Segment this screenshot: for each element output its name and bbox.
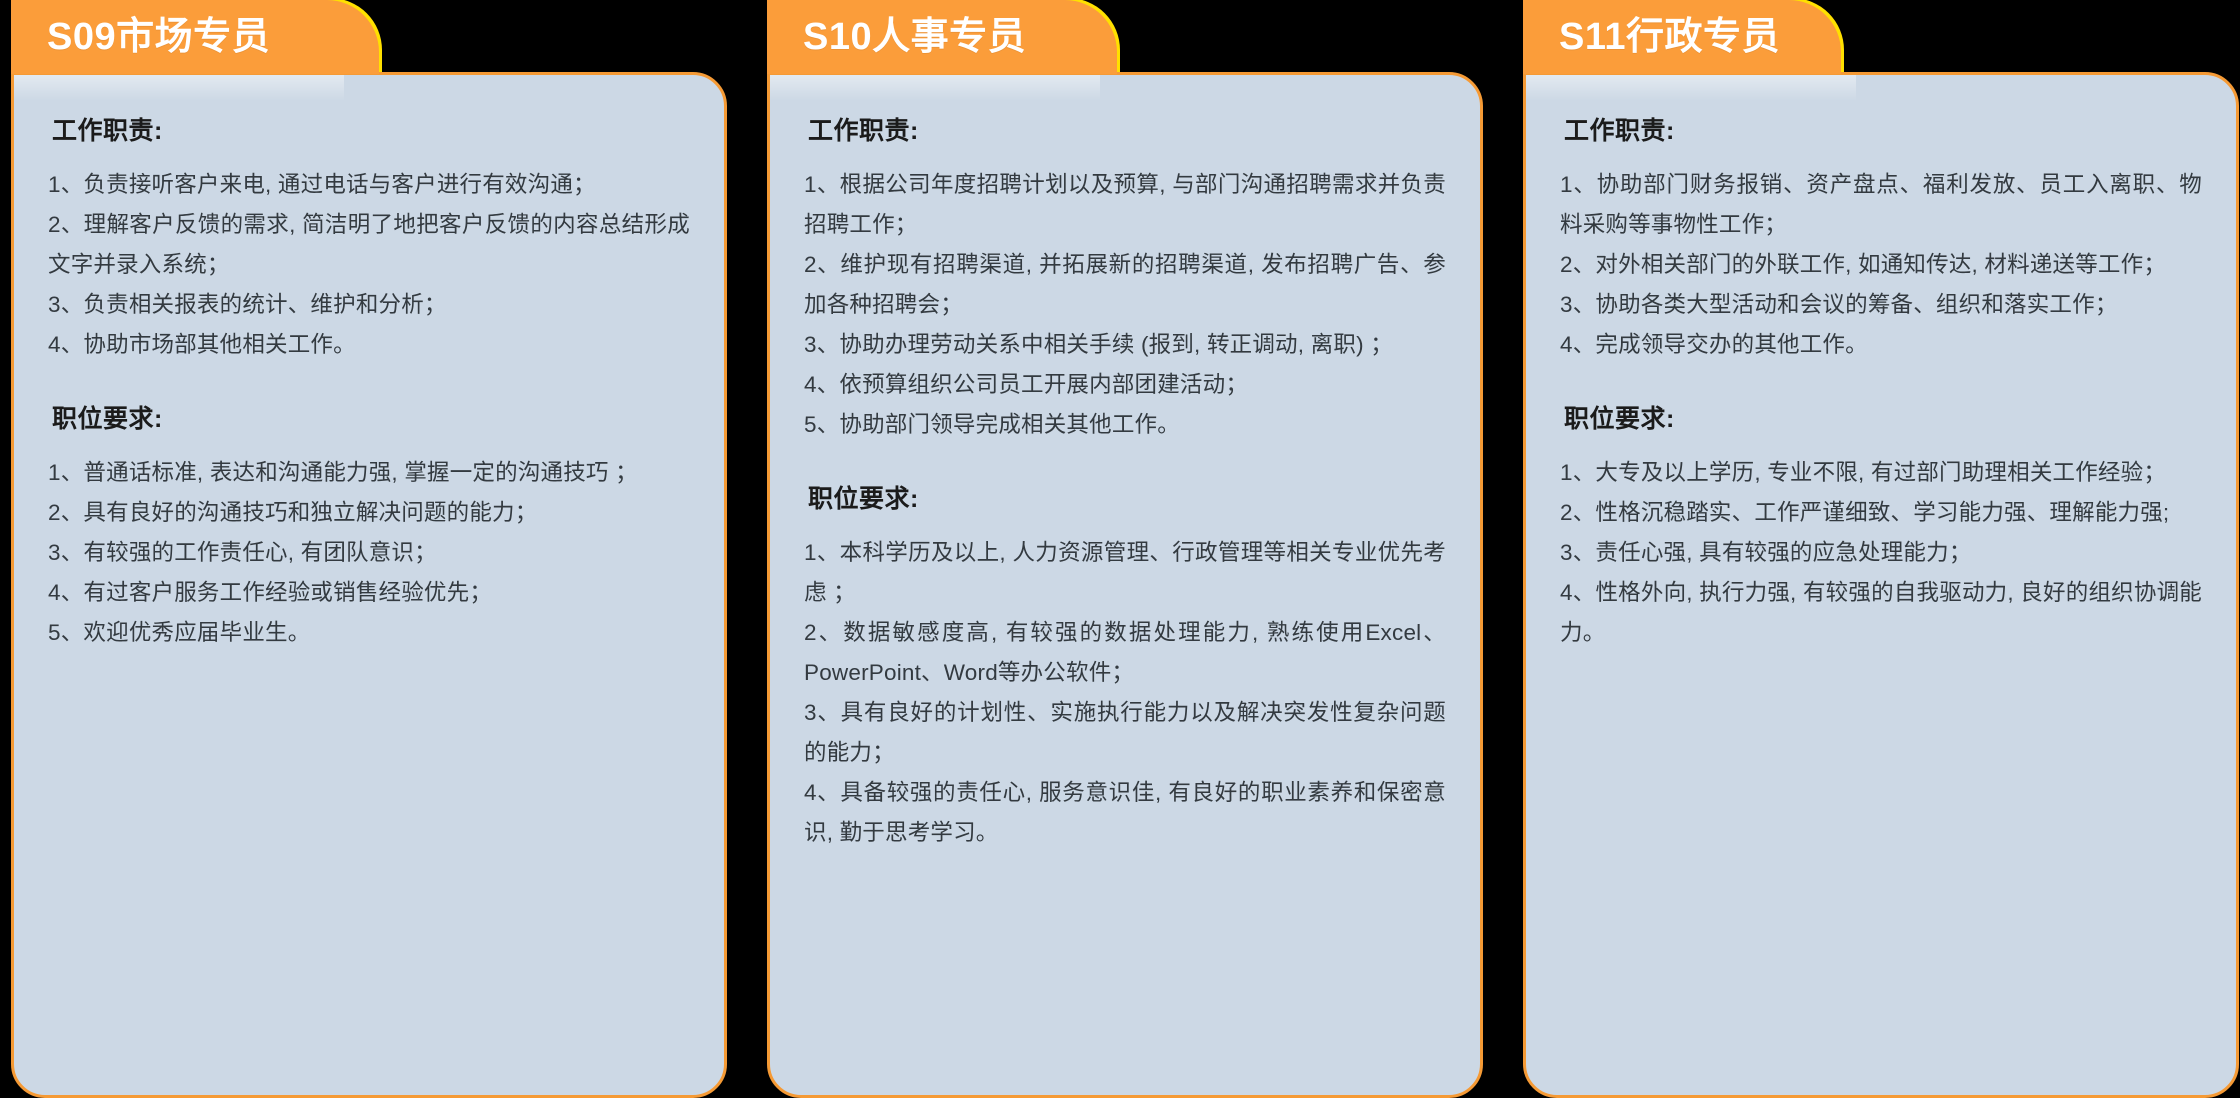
job-card-title-s11: S11行政专员 — [1559, 18, 1780, 56]
list-item: 4、具备较强的责任心, 服务意识佳, 有良好的职业素养和保密意识, 勤于思考学习… — [804, 773, 1446, 853]
job-card-s11: S11行政专员 工作职责: 1、协助部门财务报销、资产盘点、福利发放、员工入离职… — [1523, 0, 2239, 1098]
section-requirements-s11: 职位要求: 1、大专及以上学历, 专业不限, 有过部门助理相关工作经验； 2、性… — [1560, 405, 2202, 653]
section-heading-requirements-s10: 职位要求: — [808, 485, 919, 517]
list-item: 1、普通话标准, 表达和沟通能力强, 掌握一定的沟通技巧 ； — [48, 453, 690, 493]
list-item: 4、协助市场部其他相关工作。 — [48, 325, 690, 365]
section-heading-requirements-s11: 职位要求: — [1564, 405, 1675, 437]
section-heading-duties-s11: 工作职责: — [1564, 117, 1675, 149]
list-item: 1、大专及以上学历, 专业不限, 有过部门助理相关工作经验； — [1560, 453, 2202, 493]
list-item: 3、协助办理劳动关系中相关手续 (报到, 转正调动, 离职) ； — [804, 325, 1446, 365]
requirements-list-s09: 1、普通话标准, 表达和沟通能力强, 掌握一定的沟通技巧 ； 2、具有良好的沟通… — [48, 453, 690, 653]
job-card-s09: S09市场专员 工作职责: 1、负责接听客户来电, 通过电话与客户进行有效沟通；… — [11, 0, 727, 1098]
list-item: 3、有较强的工作责任心, 有团队意识； — [48, 533, 690, 573]
job-card-body-s11: 工作职责: 1、协助部门财务报销、资产盘点、福利发放、员工入离职、物料采购等事物… — [1523, 72, 2239, 1098]
list-item: 1、根据公司年度招聘计划以及预算, 与部门沟通招聘需求并负责招聘工作； — [804, 165, 1446, 245]
list-item: 4、性格外向, 执行力强, 有较强的自我驱动力, 良好的组织协调能力。 — [1560, 573, 2202, 653]
list-item: 3、具有良好的计划性、实施执行能力以及解决突发性复杂问题的能力； — [804, 693, 1446, 773]
section-requirements-s09: 职位要求: 1、普通话标准, 表达和沟通能力强, 掌握一定的沟通技巧 ； 2、具… — [48, 405, 690, 653]
list-item: 4、完成领导交办的其他工作。 — [1560, 325, 2202, 365]
list-item: 2、对外相关部门的外联工作, 如通知传达, 材料递送等工作； — [1560, 245, 2202, 285]
job-card-tab-s11[interactable]: S11行政专员 — [1523, 0, 1841, 74]
list-item: 5、欢迎优秀应届毕业生。 — [48, 613, 690, 653]
requirements-list-s10: 1、本科学历及以上, 人力资源管理、行政管理等相关专业优先考虑 ； 2、数据敏感… — [804, 533, 1446, 853]
job-card-tab-s10[interactable]: S10人事专员 — [767, 0, 1117, 74]
list-item: 1、协助部门财务报销、资产盘点、福利发放、员工入离职、物料采购等事物性工作； — [1560, 165, 2202, 245]
duties-list-s11: 1、协助部门财务报销、资产盘点、福利发放、员工入离职、物料采购等事物性工作； 2… — [1560, 165, 2202, 365]
list-item: 1、负责接听客户来电, 通过电话与客户进行有效沟通； — [48, 165, 690, 205]
list-item: 1、本科学历及以上, 人力资源管理、行政管理等相关专业优先考虑 ； — [804, 533, 1446, 613]
job-card-title-s10: S10人事专员 — [803, 18, 1026, 56]
list-item: 2、理解客户反馈的需求, 简洁明了地把客户反馈的内容总结形成文字并录入系统； — [48, 205, 690, 285]
job-card-body-s10: 工作职责: 1、根据公司年度招聘计划以及预算, 与部门沟通招聘需求并负责招聘工作… — [767, 72, 1483, 1098]
section-heading-duties-s09: 工作职责: — [52, 117, 163, 149]
duties-list-s09: 1、负责接听客户来电, 通过电话与客户进行有效沟通； 2、理解客户反馈的需求, … — [48, 165, 690, 365]
section-duties-s09: 工作职责: 1、负责接听客户来电, 通过电话与客户进行有效沟通； 2、理解客户反… — [48, 117, 690, 365]
job-card-tab-s09[interactable]: S09市场专员 — [11, 0, 379, 74]
job-cards-board: S09市场专员 工作职责: 1、负责接听客户来电, 通过电话与客户进行有效沟通；… — [0, 0, 2240, 1098]
duties-list-s10: 1、根据公司年度招聘计划以及预算, 与部门沟通招聘需求并负责招聘工作； 2、维护… — [804, 165, 1446, 445]
job-card-body-s09: 工作职责: 1、负责接听客户来电, 通过电话与客户进行有效沟通； 2、理解客户反… — [11, 72, 727, 1098]
list-item: 5、协助部门领导完成相关其他工作。 — [804, 405, 1446, 445]
section-heading-duties-s10: 工作职责: — [808, 117, 919, 149]
section-duties-s11: 工作职责: 1、协助部门财务报销、资产盘点、福利发放、员工入离职、物料采购等事物… — [1560, 117, 2202, 365]
job-card-s10: S10人事专员 工作职责: 1、根据公司年度招聘计划以及预算, 与部门沟通招聘需… — [767, 0, 1483, 1098]
section-duties-s10: 工作职责: 1、根据公司年度招聘计划以及预算, 与部门沟通招聘需求并负责招聘工作… — [804, 117, 1446, 445]
list-item: 2、数据敏感度高, 有较强的数据处理能力, 熟练使用Excel、PowerPoi… — [804, 613, 1446, 693]
list-item: 3、协助各类大型活动和会议的筹备、组织和落实工作； — [1560, 285, 2202, 325]
list-item: 3、负责相关报表的统计、维护和分析； — [48, 285, 690, 325]
section-heading-requirements-s09: 职位要求: — [52, 405, 163, 437]
list-item: 2、性格沉稳踏实、工作严谨细致、学习能力强、理解能力强; — [1560, 493, 2202, 533]
section-requirements-s10: 职位要求: 1、本科学历及以上, 人力资源管理、行政管理等相关专业优先考虑 ； … — [804, 485, 1446, 853]
list-item: 4、依预算组织公司员工开展内部团建活动； — [804, 365, 1446, 405]
list-item: 2、维护现有招聘渠道, 并拓展新的招聘渠道, 发布招聘广告、参加各种招聘会； — [804, 245, 1446, 325]
list-item: 2、具有良好的沟通技巧和独立解决问题的能力； — [48, 493, 690, 533]
requirements-list-s11: 1、大专及以上学历, 专业不限, 有过部门助理相关工作经验； 2、性格沉稳踏实、… — [1560, 453, 2202, 653]
job-card-title-s09: S09市场专员 — [47, 18, 270, 56]
list-item: 3、责任心强, 具有较强的应急处理能力； — [1560, 533, 2202, 573]
list-item: 4、有过客户服务工作经验或销售经验优先； — [48, 573, 690, 613]
